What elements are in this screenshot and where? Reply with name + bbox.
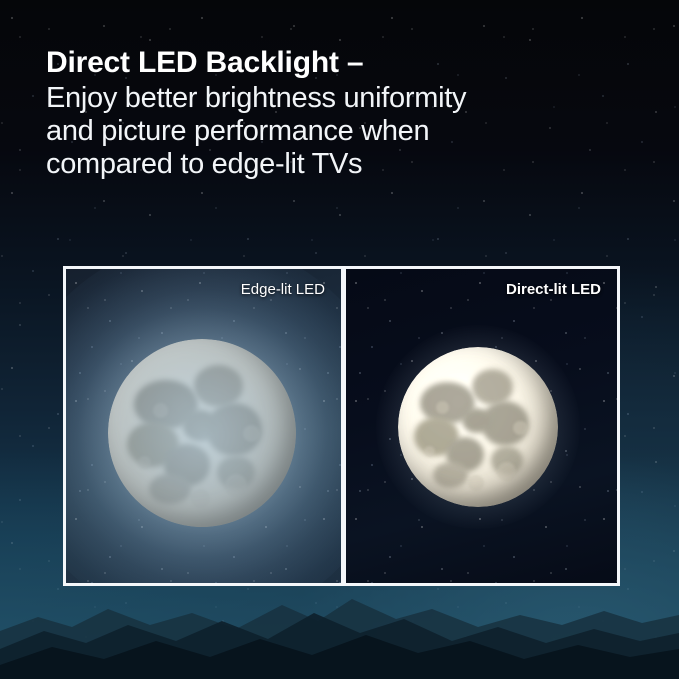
promo-copy: Direct LED Backlight – Enjoy better brig… (46, 46, 646, 181)
moon-limb-shading (398, 347, 558, 507)
moon-disc (398, 347, 558, 507)
moon-disc (108, 339, 296, 527)
panel-label-edge-lit: Edge-lit LED (241, 281, 325, 298)
edge-lit-moon (108, 339, 296, 527)
promo-description: Enjoy better brightness uniformity and p… (46, 82, 646, 181)
panel-edge-lit: Edge-lit LED (66, 269, 341, 583)
moon-limb-shading (108, 339, 296, 527)
description-line-1: Enjoy better brightness uniformity (46, 82, 646, 115)
page-title: Direct LED Backlight – (46, 46, 646, 80)
description-line-3: compared to edge-lit TVs (46, 148, 646, 181)
description-line-2: and picture performance when (46, 115, 646, 148)
promo-image-root: Direct LED Backlight – Enjoy better brig… (0, 0, 679, 679)
panel-label-direct-lit: Direct-lit LED (506, 281, 601, 298)
direct-lit-moon (398, 347, 558, 507)
panel-direct-lit: Direct-lit LED (346, 269, 617, 583)
comparison-frame: Edge-lit LED (63, 266, 620, 586)
